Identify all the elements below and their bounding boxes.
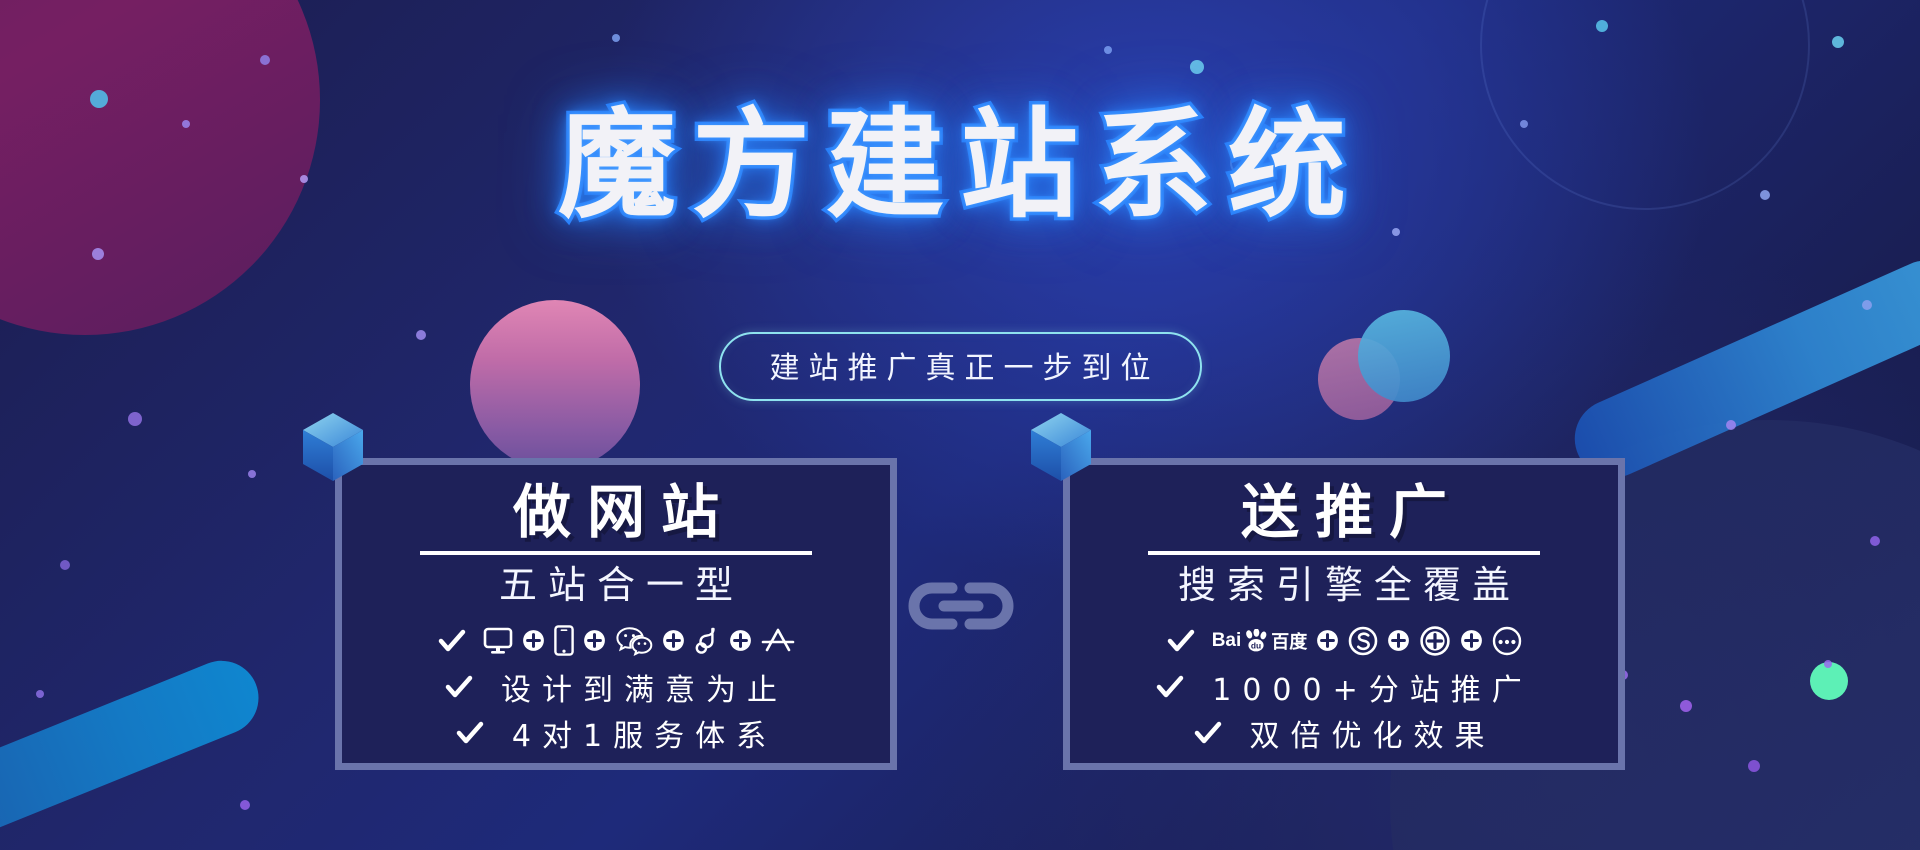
platform-icon-strip (483, 625, 795, 656)
star-dot (92, 248, 104, 260)
feature-row: 设计到满意为止 (342, 667, 890, 707)
monitor-icon (483, 627, 513, 655)
check-icon (1166, 626, 1196, 656)
subtitle-wrapper: 建站推广真正一步到位 (0, 332, 1920, 401)
feature-label: 设计到满意为止 (490, 665, 788, 709)
star-dot (36, 690, 44, 698)
plus-icon (1460, 629, 1483, 652)
baidu-latin-label: Bai (1212, 630, 1242, 652)
cube-icon (300, 411, 366, 485)
check-icon (1155, 672, 1185, 702)
check-icon (1193, 718, 1223, 748)
card-body: 送推广 搜索引擎全覆盖 Bai (1070, 465, 1618, 763)
feature-row-icons (342, 621, 890, 661)
star-dot (260, 55, 270, 65)
check-icon (444, 672, 474, 702)
star-dot (1832, 36, 1844, 48)
card-subheading: 五站合一型 (342, 563, 890, 609)
star-dot (240, 800, 250, 810)
feature-row: 4对1服务体系 (342, 713, 890, 753)
feature-list: Bai du 百度 (1070, 621, 1618, 753)
feature-row-icons: Bai du 百度 (1070, 621, 1618, 661)
star-dot (1190, 60, 1204, 74)
star-dot (1104, 46, 1112, 54)
star-dot (1748, 760, 1760, 772)
star-dot (1870, 536, 1880, 546)
wechat-icon (615, 626, 653, 656)
baidu-logo-icon: Bai du 百度 (1212, 628, 1308, 654)
card-subheading: 搜索引擎全覆盖 (1070, 563, 1618, 609)
heading-divider (1148, 551, 1540, 555)
page-title: 魔方建站系统 (558, 96, 1362, 235)
baidu-chinese-label: 百度 (1271, 628, 1307, 654)
card-heading: 做网站 (342, 479, 890, 545)
subtitle-badge: 建站推广真正一步到位 (719, 332, 1202, 401)
star-dot (1726, 420, 1736, 430)
360-search-icon (1419, 625, 1451, 657)
douyin-music-icon (694, 626, 720, 656)
star-dot (1824, 660, 1832, 668)
star-dot (128, 412, 142, 426)
plus-icon (522, 629, 545, 652)
mint-green-dot (1810, 662, 1848, 700)
search-engine-icon-strip: Bai du 百度 (1212, 625, 1523, 657)
app-store-icon (761, 627, 795, 655)
plus-icon (1387, 629, 1410, 652)
star-dot (1596, 20, 1608, 32)
baidu-paw-icon: du (1243, 629, 1269, 653)
star-dot (1862, 300, 1872, 310)
check-icon (437, 626, 467, 656)
star-dot (1680, 700, 1692, 712)
main-title-wrapper: 魔方建站系统 (0, 96, 1920, 235)
svg-text:du: du (1251, 640, 1261, 650)
star-dot (60, 560, 70, 570)
card-make-website[interactable]: 做网站 五站合一型 (335, 458, 897, 770)
feature-row: 双倍优化效果 (1070, 713, 1618, 753)
plus-icon (1316, 629, 1339, 652)
sogou-icon (1348, 626, 1378, 656)
card-free-promotion[interactable]: 送推广 搜索引擎全覆盖 Bai (1063, 458, 1625, 770)
banner-stage: 魔方建站系统 建站推广真正一步到位 做网站 (0, 0, 1920, 850)
feature-label: 4对1服务体系 (501, 711, 777, 755)
heading-divider (420, 551, 812, 555)
plus-icon (729, 629, 752, 652)
cube-icon (1028, 411, 1094, 485)
star-dot (248, 470, 256, 478)
feature-label: 双倍优化效果 (1239, 711, 1496, 755)
blue-ellipse-streak (0, 650, 270, 850)
card-heading: 送推广 (1070, 479, 1618, 545)
star-dot (612, 34, 620, 42)
more-ellipsis-icon (1492, 626, 1522, 656)
link-icon (902, 574, 1020, 638)
check-icon (455, 718, 485, 748)
feature-list: 设计到满意为止 4对1服务体系 (342, 621, 890, 753)
plus-icon (583, 629, 606, 652)
feature-row: 1000+分站推广 (1070, 667, 1618, 707)
feature-label: 1000+分站推广 (1201, 665, 1532, 709)
card-body: 做网站 五站合一型 (342, 465, 890, 763)
mobile-phone-icon (554, 625, 574, 656)
plus-icon (662, 629, 685, 652)
